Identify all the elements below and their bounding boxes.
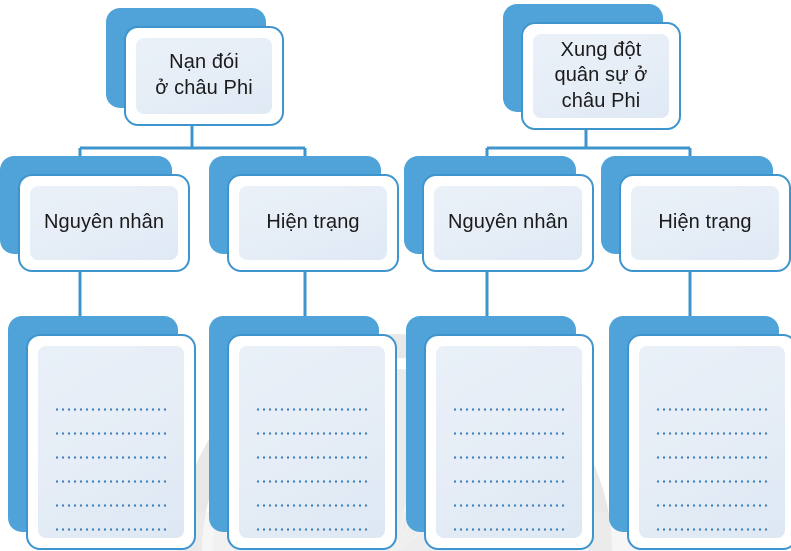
card-panel: Hiện trạng (239, 186, 387, 260)
note-writing-lines[interactable] (452, 408, 566, 531)
card-panel: Xung đột quân sự ở châu Phi (533, 34, 669, 118)
root-label-famine: Nạn đói ở châu Phi (155, 50, 253, 101)
card-frame: Nguyên nhân (18, 174, 190, 272)
card-frame: Nạn đói ở châu Phi (124, 26, 284, 126)
dotted-line (255, 408, 369, 411)
note-card-conflict-state[interactable] (609, 316, 779, 532)
dotted-line (452, 480, 566, 483)
card-panel: Nguyên nhân (30, 186, 178, 260)
card-frame (26, 334, 196, 550)
category-card-famine-state[interactable]: Hiện trạng (209, 156, 381, 254)
card-frame: Xung đột quân sự ở châu Phi (521, 22, 681, 130)
dotted-line (54, 408, 168, 411)
root-card-famine[interactable]: Nạn đói ở châu Phi (106, 8, 266, 108)
dotted-line (54, 432, 168, 435)
dotted-line (452, 504, 566, 507)
note-writing-lines[interactable] (655, 408, 769, 531)
card-frame (227, 334, 397, 550)
diagram-canvas: Nạn đói ở châu Phi Xung đột quân sự ở ch… (0, 0, 791, 551)
category-label-conflict-cause: Nguyên nhân (448, 210, 568, 236)
card-panel (239, 346, 385, 538)
dotted-line (54, 504, 168, 507)
dotted-line (255, 432, 369, 435)
card-frame (627, 334, 791, 550)
dotted-line (54, 480, 168, 483)
note-writing-lines[interactable] (54, 408, 168, 531)
dotted-line (255, 504, 369, 507)
card-frame: Hiện trạng (619, 174, 791, 272)
dotted-line (54, 528, 168, 531)
card-panel (436, 346, 582, 538)
dotted-line (255, 480, 369, 483)
root-label-conflict: Xung đột quân sự ở châu Phi (554, 38, 647, 115)
card-panel (639, 346, 785, 538)
dotted-line (452, 456, 566, 459)
root-card-conflict[interactable]: Xung đột quân sự ở châu Phi (503, 4, 663, 112)
card-panel: Nạn đói ở châu Phi (136, 38, 272, 114)
dotted-line (54, 456, 168, 459)
card-panel: Nguyên nhân (434, 186, 582, 260)
card-panel (38, 346, 184, 538)
dotted-line (655, 504, 769, 507)
note-writing-lines[interactable] (255, 408, 369, 531)
dotted-line (255, 528, 369, 531)
dotted-line (655, 456, 769, 459)
category-card-famine-cause[interactable]: Nguyên nhân (0, 156, 172, 254)
note-card-famine-cause[interactable] (8, 316, 178, 532)
dotted-line (452, 408, 566, 411)
dotted-line (655, 528, 769, 531)
category-label-famine-cause: Nguyên nhân (44, 210, 164, 236)
card-frame: Hiện trạng (227, 174, 399, 272)
card-panel: Hiện trạng (631, 186, 779, 260)
category-card-conflict-cause[interactable]: Nguyên nhân (404, 156, 576, 254)
note-card-famine-state[interactable] (209, 316, 379, 532)
category-label-conflict-state: Hiện trạng (658, 210, 751, 236)
note-card-conflict-cause[interactable] (406, 316, 576, 532)
dotted-line (452, 432, 566, 435)
card-frame: Nguyên nhân (422, 174, 594, 272)
dotted-line (655, 408, 769, 411)
category-label-famine-state: Hiện trạng (266, 210, 359, 236)
dotted-line (452, 528, 566, 531)
dotted-line (655, 432, 769, 435)
card-frame (424, 334, 594, 550)
category-card-conflict-state[interactable]: Hiện trạng (601, 156, 773, 254)
dotted-line (655, 480, 769, 483)
dotted-line (255, 456, 369, 459)
